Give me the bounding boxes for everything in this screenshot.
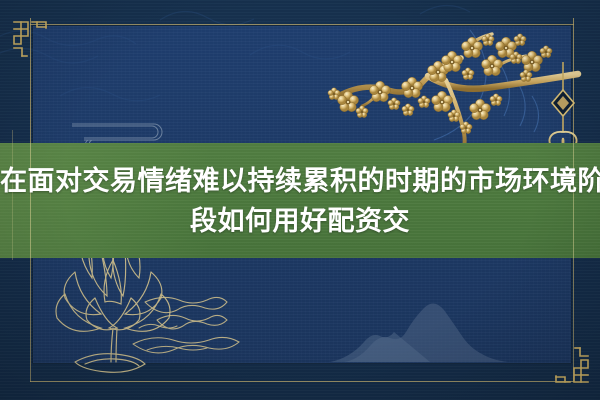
poster-canvas: 在面对交易情绪难以持续累积的时期的市场环境阶 段如何用好配资交 xyxy=(0,0,600,400)
poster-title-line-2: 段如何用好配资交 xyxy=(0,201,600,241)
frame-line-bottom xyxy=(30,381,574,382)
poster-title-line-1: 在面对交易情绪难以持续累积的时期的市场环境阶 xyxy=(0,161,600,201)
mountain-silhouette-icon xyxy=(310,282,570,362)
title-band: 在面对交易情绪难以持续累积的时期的市场环境阶 段如何用好配资交 xyxy=(0,143,600,258)
poster-title: 在面对交易情绪难以持续累积的时期的市场环境阶 段如何用好配资交 xyxy=(0,161,600,241)
corner-fret-icon-top-left xyxy=(10,18,52,64)
